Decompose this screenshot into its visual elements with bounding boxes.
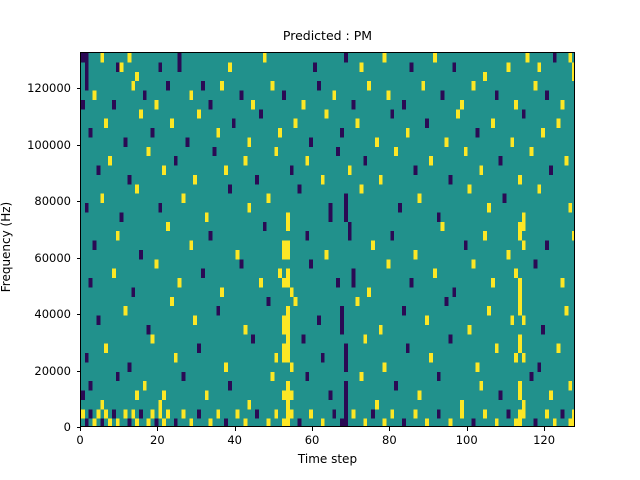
y-tick-mark [77,145,81,146]
heatmap-axes [80,52,575,427]
y-tick-mark [77,88,81,89]
x-tick-label: 120 [533,433,555,447]
y-axis-label: Frequency (Hz) [0,147,13,347]
x-tick-label: 80 [382,433,397,447]
x-tick-label: 0 [76,433,83,447]
x-tick-label: 40 [227,433,242,447]
figure-canvas: Predicted : PM 0200004000060000800001000… [0,0,640,480]
page-title: Predicted : PM [80,28,575,43]
x-tick-label: 20 [150,433,165,447]
y-tick-label: 20000 [0,364,71,378]
y-tick-label: 0 [0,420,71,434]
x-tick-label: 100 [456,433,478,447]
x-tick-mark [389,427,390,431]
x-tick-mark [235,427,236,431]
y-tick-mark [77,258,81,259]
x-tick-mark [312,427,313,431]
x-tick-label: 60 [305,433,320,447]
heatmap-image [81,53,575,427]
y-tick-mark [77,371,81,372]
y-tick-mark [77,201,81,202]
x-tick-mark [157,427,158,431]
y-tick-mark [77,314,81,315]
x-tick-mark [80,427,81,431]
x-tick-mark [544,427,545,431]
x-tick-mark [467,427,468,431]
y-tick-label: 120000 [0,81,71,95]
x-axis-label: Time step [80,452,575,466]
